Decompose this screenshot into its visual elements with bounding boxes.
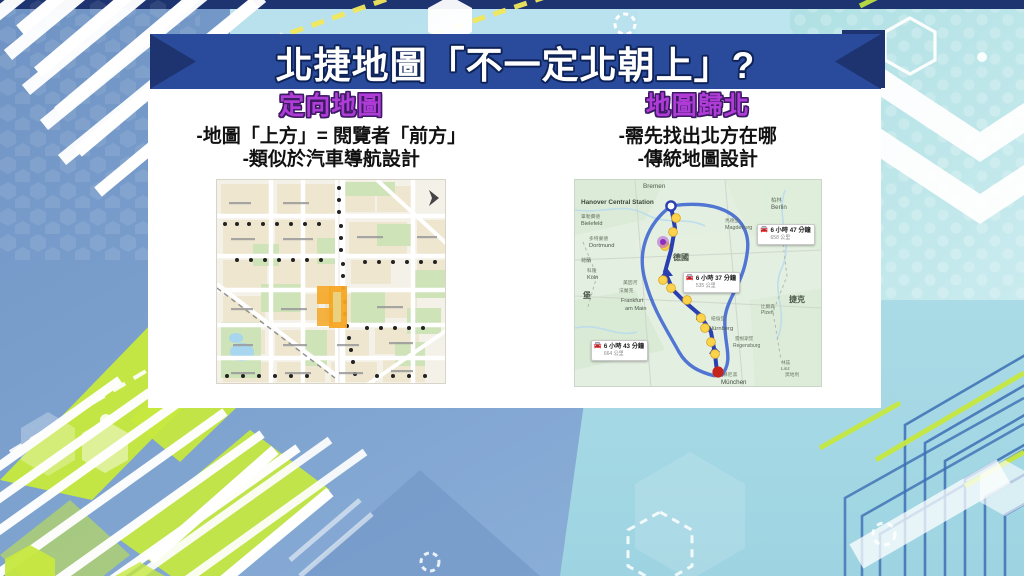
svg-text:荷蘭: 荷蘭 bbox=[581, 257, 591, 264]
svg-text:柏林: 柏林 bbox=[771, 196, 782, 204]
route-map-image: Bremen 柏林 Berlin 馬德堡 Magdeburg 畢勒費德 Biel… bbox=[574, 179, 822, 387]
bullet-item: -類似於汽車導航設計 bbox=[196, 148, 466, 172]
svg-text:雷根斯堡: 雷根斯堡 bbox=[735, 335, 754, 342]
svg-text:Plzeň: Plzeň bbox=[761, 310, 774, 316]
svg-text:奧地利: 奧地利 bbox=[785, 371, 800, 378]
route-distance: 535 公里 bbox=[696, 283, 716, 289]
svg-text:am Main: am Main bbox=[625, 306, 646, 312]
column-heading-north-up: 地圖歸北 bbox=[646, 92, 750, 121]
bullet-item: -傳統地圖設計 bbox=[619, 148, 777, 172]
route-map-container: Bremen 柏林 Berlin 馬德堡 Magdeburg 畢勒費德 Biel… bbox=[574, 179, 822, 387]
svg-text:Nürnberg: Nürnberg bbox=[709, 326, 733, 332]
svg-text:Köln: Köln bbox=[587, 275, 598, 281]
route-duration-chip[interactable]: 🚘 6 小時 37 分鐘 535 公里 bbox=[683, 272, 740, 293]
svg-text:Hanover Central Station: Hanover Central Station bbox=[581, 199, 654, 206]
svg-text:林茲: 林茲 bbox=[781, 359, 791, 366]
car-icon: 🚘 bbox=[686, 275, 694, 282]
title-banner: 北捷地圖「不一定北朝上」? bbox=[150, 34, 881, 89]
street-map-container bbox=[216, 179, 446, 384]
svg-text:Regensburg: Regensburg bbox=[733, 343, 760, 349]
bullet-item: -地圖「上方」= 閱覽者「前方」 bbox=[196, 125, 466, 149]
svg-text:堡: 堡 bbox=[583, 290, 591, 300]
bullet-list-north-up: -需先找出北方在哪 -傳統地圖設計 bbox=[619, 125, 777, 172]
bullet-list-oriented: -地圖「上方」= 閱覽者「前方」 -類似於汽車導航設計 bbox=[196, 125, 466, 172]
svg-text:Bremen: Bremen bbox=[643, 183, 666, 190]
svg-text:美因河: 美因河 bbox=[623, 279, 638, 286]
svg-text:多特蒙德: 多特蒙德 bbox=[589, 235, 608, 242]
svg-text:捷克: 捷克 bbox=[789, 294, 805, 304]
route-duration-chip[interactable]: 🚘 6 小時 43 分鐘 664 公里 bbox=[591, 340, 648, 361]
car-icon: 🚘 bbox=[760, 227, 768, 234]
route-duration: 6 小時 47 分鐘 bbox=[771, 227, 811, 234]
route-distance: 658 公里 bbox=[771, 235, 791, 241]
svg-text:畢勒費德: 畢勒費德 bbox=[581, 213, 600, 220]
svg-text:München: München bbox=[721, 379, 747, 386]
svg-text:Bielefeld: Bielefeld bbox=[581, 221, 602, 227]
bullet-item: -需先找出北方在哪 bbox=[619, 125, 777, 149]
route-duration: 6 小時 43 分鐘 bbox=[604, 343, 644, 350]
svg-text:紐倫堡: 紐倫堡 bbox=[711, 315, 726, 322]
svg-text:Magdeburg: Magdeburg bbox=[725, 225, 752, 231]
street-map-image bbox=[216, 179, 446, 384]
svg-text:馬德堡: 馬德堡 bbox=[725, 217, 740, 224]
svg-text:德國: 德國 bbox=[673, 252, 689, 262]
svg-text:Dortmund: Dortmund bbox=[589, 243, 614, 249]
column-oriented-map: 定向地圖 -地圖「上方」= 閱覽者「前方」 -類似於汽車導航設計 bbox=[148, 86, 515, 408]
route-distance: 664 公里 bbox=[604, 351, 624, 357]
svg-text:Linz: Linz bbox=[781, 366, 790, 372]
svg-text:Frankfurt: Frankfurt bbox=[621, 298, 644, 304]
svg-text:比爾森: 比爾森 bbox=[761, 303, 775, 310]
svg-text:法蘭克: 法蘭克 bbox=[619, 287, 634, 294]
route-duration-chip[interactable]: 🚘 6 小時 47 分鐘 658 公里 bbox=[757, 224, 814, 245]
content-card: 定向地圖 -地圖「上方」= 閱覽者「前方」 -類似於汽車導航設計 bbox=[148, 86, 881, 408]
route-duration: 6 小時 37 分鐘 bbox=[696, 275, 736, 282]
svg-text:科隆: 科隆 bbox=[587, 267, 597, 274]
svg-text:Berlin: Berlin bbox=[771, 204, 787, 211]
svg-text:慕尼黑: 慕尼黑 bbox=[723, 371, 738, 378]
page-title: 北捷地圖「不一定北朝上」? bbox=[276, 45, 756, 86]
column-heading-oriented: 定向地圖 bbox=[279, 92, 383, 121]
column-north-up-map: 地圖歸北 -需先找出北方在哪 -傳統地圖設計 bbox=[515, 86, 882, 408]
title-inner: 北捷地圖「不一定北朝上」? bbox=[276, 35, 756, 89]
car-icon: 🚘 bbox=[594, 343, 602, 350]
